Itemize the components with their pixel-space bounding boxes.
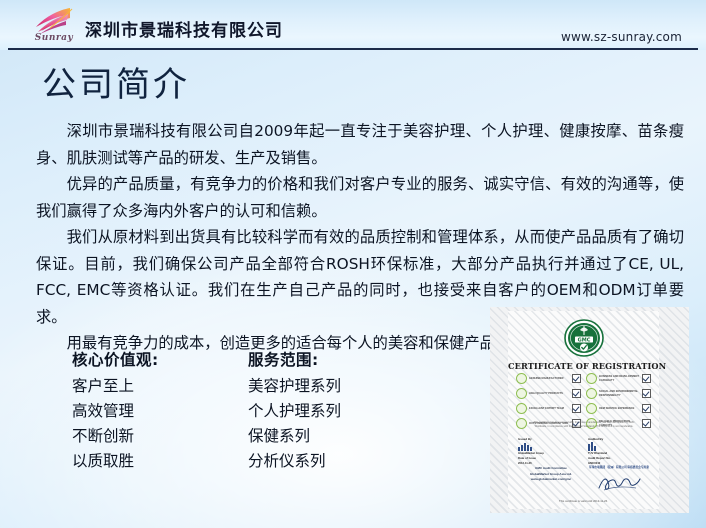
check-box-icon — [642, 389, 651, 398]
gmc-seal-text: GMC — [577, 337, 590, 343]
certificate-criterion: GENUINE MANUFACTURER — [516, 373, 581, 384]
certificate-title: CERTIFICATE OF REGISTRATION — [508, 361, 659, 371]
check-box-icon — [572, 389, 581, 398]
signature-icon — [596, 474, 642, 492]
leaf-icon — [516, 403, 527, 414]
core-values-heading: 核心价值观: — [72, 348, 159, 373]
certificate-criterion: SOCIAL AND ENVIRONMENTAL RESPONSIBILITY — [586, 388, 651, 399]
paragraph-2: 优异的产品质量，有竞争力的价格和我们对客户专业的服务、诚实守信、有效的沟通等，使… — [36, 171, 684, 224]
leaf-icon — [586, 388, 597, 399]
slide-header: Sunray 深圳市景瑞科技有限公司 www.sz-sunray.com — [0, 0, 706, 50]
certificate-audited-by: Audited By TÜV Rheinland Audit Report No… — [588, 437, 650, 466]
slide-canvas: Sunray 深圳市景瑞科技有限公司 www.sz-sunray.com 公司简… — [0, 0, 706, 528]
sunray-wing-logo-icon: Sunray — [26, 7, 80, 47]
issuer-logo-icon — [518, 442, 580, 451]
footer-url: www.globalmarket.com/gmc — [518, 477, 584, 483]
check-box-icon — [572, 404, 581, 413]
certificate-criterion: HIGH QUALITY PRODUCTS — [516, 388, 581, 399]
certificate-page: GMC CERTIFICATE OF REGISTRATION GENUINE … — [508, 311, 659, 509]
page-title: 公司简介 — [42, 64, 190, 106]
auditor-logo-icon — [588, 442, 650, 451]
leaf-icon — [516, 418, 527, 429]
certificate-footer-left: GMC Audit Committee GlobalMarket Group A… — [518, 466, 584, 483]
criterion-label: HIGH QUALITY PRODUCTS — [529, 392, 570, 395]
stamp-text: 环球市场集团（亚洲）有限公司 审核委员会专用章 — [588, 466, 650, 470]
check-box-icon — [642, 419, 651, 428]
certificate-stamp: 环球市场集团（亚洲）有限公司 审核委员会专用章 — [588, 466, 650, 494]
list-item: 美容护理系列 — [248, 374, 341, 399]
certificate-validity: This certificate is valid until 2013-11-… — [508, 499, 659, 503]
certificate-issued-by: Issued By GlobalMarket Group Date of Iss… — [518, 437, 580, 466]
certificate-footer: GMC Audit Committee GlobalMarket Group A… — [518, 466, 650, 494]
list-item: 客户至上 — [72, 374, 159, 399]
leaf-icon — [586, 373, 597, 384]
leaf-icon — [516, 388, 527, 399]
criterion-label: OEM SERVICE EXPERIENCE — [599, 407, 640, 410]
leaf-icon — [516, 373, 527, 384]
criterion-label: SOCIAL AND ENVIRONMENTAL RESPONSIBILITY — [599, 390, 640, 396]
list-item: 高效管理 — [72, 399, 159, 424]
certificate-image: GMC CERTIFICATE OF REGISTRATION GENUINE … — [490, 307, 689, 513]
check-box-icon — [642, 374, 651, 383]
certificate-legal-note: This certificate has been issued after t… — [528, 421, 640, 428]
list-item: 分析仪系列 — [248, 449, 341, 474]
paragraph-1: 深圳市景瑞科技有限公司自2009年起一直专注于美容护理、个人护理、健康按摩、苗条… — [36, 118, 684, 171]
list-item: 保健系列 — [248, 424, 341, 449]
list-item: 不断创新 — [72, 424, 159, 449]
check-box-icon — [572, 374, 581, 383]
criterion-label: EXCELLENT EXPORT TEAM — [529, 407, 570, 410]
service-scope-block: 服务范围: 美容护理系列 个人护理系列 保健系列 分析仪系列 — [248, 348, 341, 474]
logo-wordmark: Sunray — [29, 33, 79, 43]
list-item: 个人护理系列 — [248, 399, 341, 424]
certificate-signature-row: Issued By GlobalMarket Group Date of Iss… — [518, 437, 650, 466]
website-url[interactable]: www.sz-sunray.com — [561, 30, 682, 44]
gmc-seal-icon: GMC — [563, 319, 605, 357]
header-divider — [8, 48, 698, 50]
check-box-icon — [642, 404, 651, 413]
criterion-label: BUSINESS AND DEVELOPMENT CAPABILITY — [599, 375, 640, 381]
certificate-criterion: EXCELLENT EXPORT TEAM — [516, 403, 581, 414]
criterion-label: GENUINE MANUFACTURER — [529, 377, 570, 380]
certificate-criterion: BUSINESS AND DEVELOPMENT CAPABILITY — [586, 373, 651, 384]
certificate-criterion: OEM SERVICE EXPERIENCE — [586, 403, 651, 414]
core-values-block: 核心价值观: 客户至上 高效管理 不断创新 以质取胜 — [72, 348, 159, 474]
list-item: 以质取胜 — [72, 449, 159, 474]
company-name: 深圳市景瑞科技有限公司 — [85, 16, 283, 41]
leaf-icon — [586, 403, 597, 414]
service-scope-heading: 服务范围: — [248, 348, 341, 373]
